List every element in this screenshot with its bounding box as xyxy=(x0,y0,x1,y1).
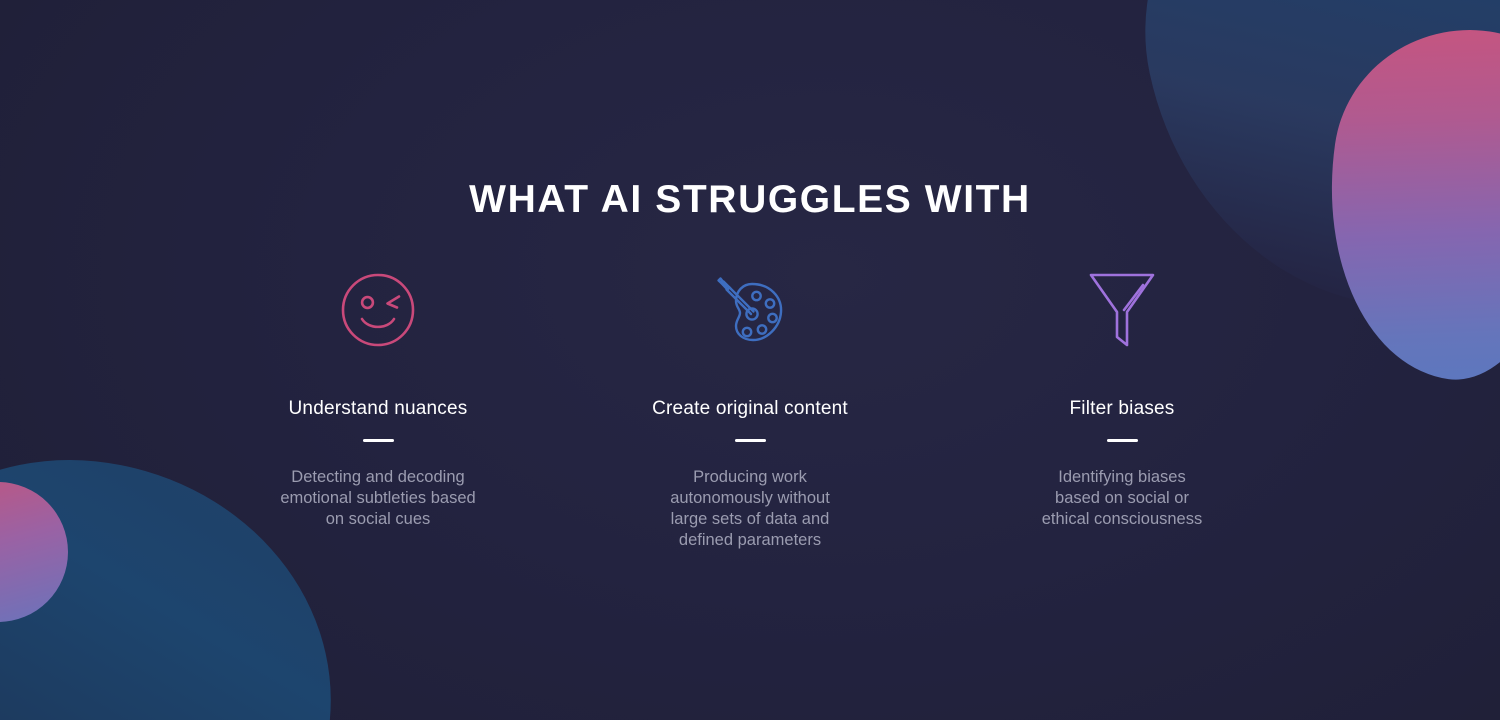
paint-palette-icon xyxy=(710,262,790,358)
winking-smiley-icon xyxy=(339,262,417,358)
card-body-line: based on social or xyxy=(1042,488,1203,509)
card-filter-biases: Filter biases Identifying biases based o… xyxy=(972,262,1272,530)
slide-root: WHAT AI STRUGGLES WITH Understand nuance… xyxy=(0,0,1500,720)
card-body-line: ethical consciousness xyxy=(1042,509,1203,530)
funnel-filter-icon xyxy=(1086,262,1158,358)
card-body-line: Producing work xyxy=(670,467,830,488)
card-body-line: Detecting and decoding xyxy=(280,467,475,488)
card-body-line: on social cues xyxy=(280,509,475,530)
card-body-line: emotional subtleties based xyxy=(280,488,475,509)
card-body-line: large sets of data and xyxy=(670,509,830,530)
card-understand-nuances: Understand nuances Detecting and decodin… xyxy=(228,262,528,530)
card-body-line: autonomously without xyxy=(670,488,830,509)
card-body-line: Identifying biases xyxy=(1042,467,1203,488)
card-body: Identifying biases based on social or et… xyxy=(1042,467,1203,530)
slide-content: WHAT AI STRUGGLES WITH Understand nuance… xyxy=(0,0,1500,720)
card-body-line: defined parameters xyxy=(670,530,830,551)
card-body: Detecting and decoding emotional subtlet… xyxy=(280,467,475,530)
page-title: WHAT AI STRUGGLES WITH xyxy=(0,178,1500,222)
card-divider xyxy=(735,439,766,442)
cards-row: Understand nuances Detecting and decodin… xyxy=(228,262,1272,551)
card-divider xyxy=(363,439,394,442)
card-title: Create original content xyxy=(652,398,848,420)
card-title: Understand nuances xyxy=(289,398,468,420)
card-body: Producing work autonomously without larg… xyxy=(670,467,830,551)
card-title: Filter biases xyxy=(1069,398,1174,420)
card-divider xyxy=(1107,439,1138,442)
card-create-original-content: Create original content Producing work a… xyxy=(600,262,900,551)
